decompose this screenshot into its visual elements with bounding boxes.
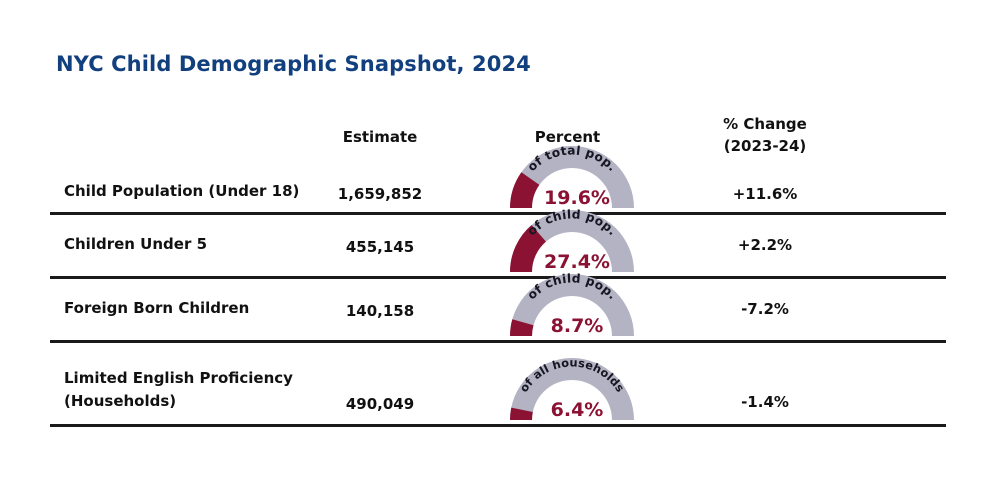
percent-gauge: of all households6.4% [502,352,642,424]
table-row: Limited English Proficiency (Households)… [50,343,946,427]
table-row: Children Under 5 455,145 of child pop.27… [50,215,946,279]
row-change: +2.2% [650,236,880,254]
row-change: -7.2% [650,300,880,318]
gauge-percent-value: 8.7% [551,315,604,337]
row-label-line1: Limited English Proficiency [64,367,324,390]
row-estimate: 140,158 [290,302,470,320]
row-change: -1.4% [650,393,880,411]
table-row: Child Population (Under 18) 1,659,852 of… [50,150,946,215]
table-row: Foreign Born Children 140,158 of child p… [50,279,946,343]
gauge-percent-value: 6.4% [551,399,604,421]
gauge-svg: of child pop.27.4% [502,204,642,276]
gauge-svg: of all households6.4% [502,352,642,424]
percent-gauge: of child pop.27.4% [502,204,642,276]
column-header-change-line1: % Change [723,115,807,133]
row-label: Child Population (Under 18) [64,180,324,203]
gauge-svg: of child pop.8.7% [502,268,642,340]
infographic-page: NYC Child Demographic Snapshot, 2024 Est… [0,0,1000,500]
row-estimate: 490,049 [290,395,470,413]
row-label: Children Under 5 [64,233,324,256]
row-label-line2: (Households) [64,390,324,413]
row-label: Limited English Proficiency (Households) [64,367,324,414]
row-estimate: 455,145 [290,238,470,256]
percent-gauge: of total pop.19.6% [502,140,642,212]
data-table: Child Population (Under 18) 1,659,852 of… [50,150,946,427]
percent-gauge: of child pop.8.7% [502,268,642,340]
column-header-estimate: Estimate [290,128,470,146]
page-title: NYC Child Demographic Snapshot, 2024 [56,52,531,76]
row-label: Foreign Born Children [64,297,324,320]
row-change: +11.6% [650,185,880,203]
row-estimate: 1,659,852 [290,185,470,203]
gauge-svg: of total pop.19.6% [502,140,642,212]
